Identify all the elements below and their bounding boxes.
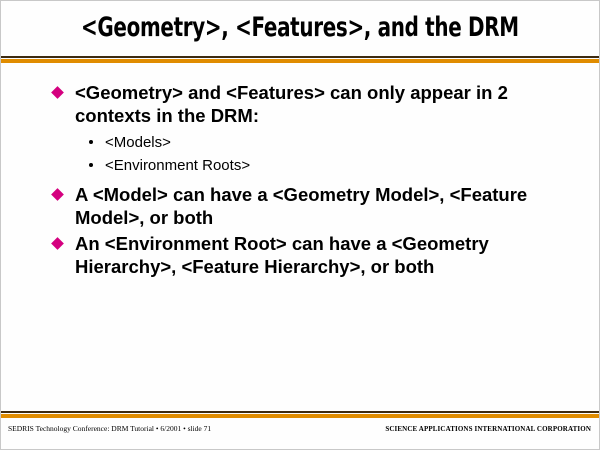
bullet-text: An <Environment Root> can have a <Geomet… xyxy=(75,233,489,277)
header-divider-orange-line xyxy=(1,59,599,63)
slide-title-area: <Geometry>, <Features>, and the DRM xyxy=(1,1,599,55)
sub-bullet-text: <Environment Roots> xyxy=(105,157,250,174)
bullet-text: <Geometry> and <Features> can only appea… xyxy=(75,82,508,126)
diamond-bullet-icon xyxy=(51,237,64,250)
bullet-item: A <Model> can have a <Geometry Model>, <… xyxy=(1,183,599,229)
slide-footer: SEDRIS Technology Conference: DRM Tutori… xyxy=(1,421,599,449)
sub-bullet-list: <Models> <Environment Roots> xyxy=(1,131,599,177)
presentation-slide: <Geometry>, <Features>, and the DRM <Geo… xyxy=(0,0,600,450)
footer-right-text: SCIENCE APPLICATIONS INTERNATIONAL CORPO… xyxy=(385,424,591,434)
diamond-bullet-icon xyxy=(51,86,64,99)
footer-divider xyxy=(1,411,599,418)
bullet-text: A <Model> can have a <Geometry Model>, <… xyxy=(75,184,527,228)
bullet-item: <Geometry> and <Features> can only appea… xyxy=(1,81,599,127)
bullet-item: An <Environment Root> can have a <Geomet… xyxy=(1,232,599,278)
dot-bullet-icon xyxy=(89,163,93,167)
slide-body: <Geometry> and <Features> can only appea… xyxy=(1,81,599,281)
sub-bullet-item: <Models> xyxy=(1,131,599,154)
footer-divider-orange-line xyxy=(1,414,599,418)
sub-bullet-item: <Environment Roots> xyxy=(1,154,599,177)
diamond-bullet-icon xyxy=(51,188,64,201)
footer-left-text: SEDRIS Technology Conference: DRM Tutori… xyxy=(8,424,211,434)
page-title: <Geometry>, <Features>, and the DRM xyxy=(81,13,519,43)
sub-bullet-text: <Models> xyxy=(105,134,171,151)
header-divider xyxy=(1,56,599,63)
dot-bullet-icon xyxy=(89,140,93,144)
